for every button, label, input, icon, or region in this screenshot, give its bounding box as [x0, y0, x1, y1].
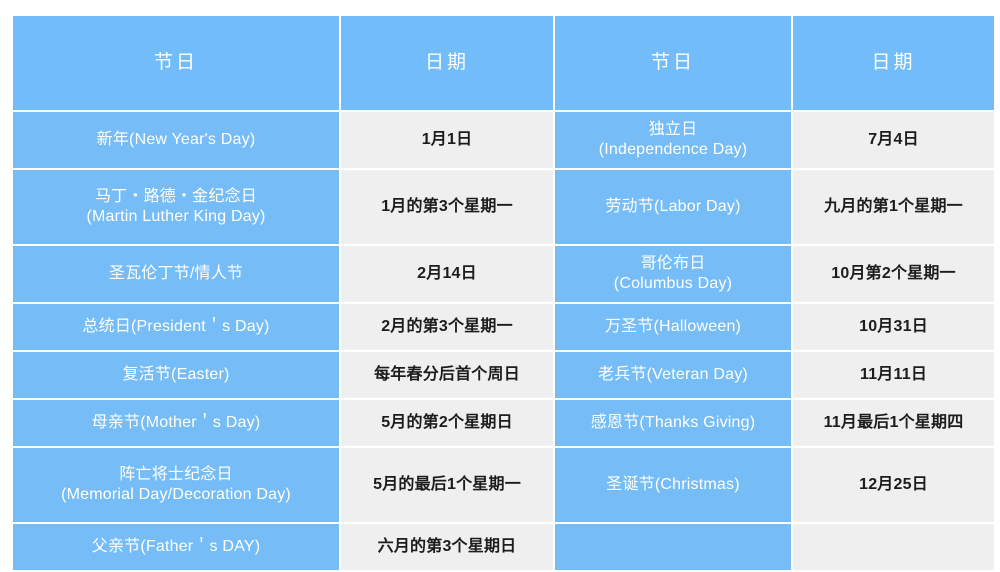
holiday-date-cell-right: 10月第2个星期一	[793, 246, 994, 302]
holiday-name-line: 新年(New Year's Day)	[19, 130, 333, 150]
holiday-name-line: 母亲节(Mother＇s Day)	[19, 413, 333, 433]
column-header-holiday-left: 节日	[13, 16, 339, 110]
holiday-name-line: (Independence Day)	[561, 140, 785, 160]
holiday-date-cell-left: 1月1日	[341, 112, 553, 168]
table-row: 总统日(President＇s Day)2月的第3个星期一万圣节(Hallowe…	[13, 304, 994, 350]
holiday-date-cell-right: 11月11日	[793, 352, 994, 398]
column-header-holiday-right: 节日	[555, 16, 791, 110]
holiday-date-cell-left: 2月14日	[341, 246, 553, 302]
holiday-date-cell-left: 5月的第2个星期日	[341, 400, 553, 446]
holiday-name-cell-left: 总统日(President＇s Day)	[13, 304, 339, 350]
holiday-name-cell-right	[555, 524, 791, 570]
holiday-date-cell-left: 每年春分后首个周日	[341, 352, 553, 398]
holiday-name-line: 万圣节(Halloween)	[561, 317, 785, 337]
holiday-date-cell-right: 7月4日	[793, 112, 994, 168]
holiday-name-line: 圣诞节(Christmas)	[561, 475, 785, 495]
holiday-name-cell-right: 圣诞节(Christmas)	[555, 448, 791, 522]
holiday-name-line: 复活节(Easter)	[19, 365, 333, 385]
holiday-name-cell-left: 圣瓦伦丁节/情人节	[13, 246, 339, 302]
holiday-table: 节日 日期 节日 日期 新年(New Year's Day)1月1日独立日(In…	[11, 14, 996, 572]
holiday-date-cell-left: 5月的最后1个星期一	[341, 448, 553, 522]
table-body: 新年(New Year's Day)1月1日独立日(Independence D…	[13, 112, 994, 570]
holiday-name-cell-left: 新年(New Year's Day)	[13, 112, 339, 168]
table-header-row: 节日 日期 节日 日期	[13, 16, 994, 110]
holiday-name-line: 独立日	[561, 120, 785, 140]
holiday-name-cell-right: 独立日(Independence Day)	[555, 112, 791, 168]
holiday-date-cell-right: 11月最后1个星期四	[793, 400, 994, 446]
holiday-name-line: 父亲节(Father＇s DAY)	[19, 537, 333, 557]
column-header-date-right: 日期	[793, 16, 994, 110]
table-row: 圣瓦伦丁节/情人节2月14日哥伦布日(Columbus Day)10月第2个星期…	[13, 246, 994, 302]
holiday-date-cell-right: 12月25日	[793, 448, 994, 522]
holiday-date-cell-left: 1月的第3个星期一	[341, 170, 553, 244]
table-row: 阵亡将士纪念日(Memorial Day/Decoration Day)5月的最…	[13, 448, 994, 522]
holiday-name-cell-left: 父亲节(Father＇s DAY)	[13, 524, 339, 570]
table-row: 马丁・路德・金纪念日(Martin Luther King Day)1月的第3个…	[13, 170, 994, 244]
holiday-name-cell-right: 哥伦布日(Columbus Day)	[555, 246, 791, 302]
table-row: 新年(New Year's Day)1月1日独立日(Independence D…	[13, 112, 994, 168]
holiday-name-cell-left: 复活节(Easter)	[13, 352, 339, 398]
table-row: 复活节(Easter)每年春分后首个周日老兵节(Veteran Day)11月1…	[13, 352, 994, 398]
holiday-name-cell-right: 劳动节(Labor Day)	[555, 170, 791, 244]
holiday-name-cell-right: 感恩节(Thanks Giving)	[555, 400, 791, 446]
table-row: 父亲节(Father＇s DAY)六月的第3个星期日	[13, 524, 994, 570]
holiday-name-line: 哥伦布日	[561, 254, 785, 274]
column-header-date-left: 日期	[341, 16, 553, 110]
holiday-name-line: 马丁・路德・金纪念日	[19, 187, 333, 207]
holiday-name-line: 老兵节(Veteran Day)	[561, 365, 785, 385]
holiday-date-cell-right	[793, 524, 994, 570]
holiday-name-line: (Martin Luther King Day)	[19, 207, 333, 227]
holiday-date-cell-left: 2月的第3个星期一	[341, 304, 553, 350]
table-row: 母亲节(Mother＇s Day)5月的第2个星期日感恩节(Thanks Giv…	[13, 400, 994, 446]
holiday-name-cell-left: 马丁・路德・金纪念日(Martin Luther King Day)	[13, 170, 339, 244]
holiday-name-line: (Memorial Day/Decoration Day)	[19, 485, 333, 505]
holiday-name-line: 圣瓦伦丁节/情人节	[19, 264, 333, 284]
holiday-date-cell-left: 六月的第3个星期日	[341, 524, 553, 570]
holiday-name-cell-right: 老兵节(Veteran Day)	[555, 352, 791, 398]
holiday-name-line: (Columbus Day)	[561, 274, 785, 294]
holiday-date-cell-right: 九月的第1个星期一	[793, 170, 994, 244]
holiday-name-line: 总统日(President＇s Day)	[19, 317, 333, 337]
holiday-name-cell-right: 万圣节(Halloween)	[555, 304, 791, 350]
holiday-name-line: 阵亡将士纪念日	[19, 465, 333, 485]
holiday-name-line: 感恩节(Thanks Giving)	[561, 413, 785, 433]
holiday-name-line: 劳动节(Labor Day)	[561, 197, 785, 217]
holiday-name-cell-left: 阵亡将士纪念日(Memorial Day/Decoration Day)	[13, 448, 339, 522]
holiday-name-cell-left: 母亲节(Mother＇s Day)	[13, 400, 339, 446]
holiday-date-cell-right: 10月31日	[793, 304, 994, 350]
